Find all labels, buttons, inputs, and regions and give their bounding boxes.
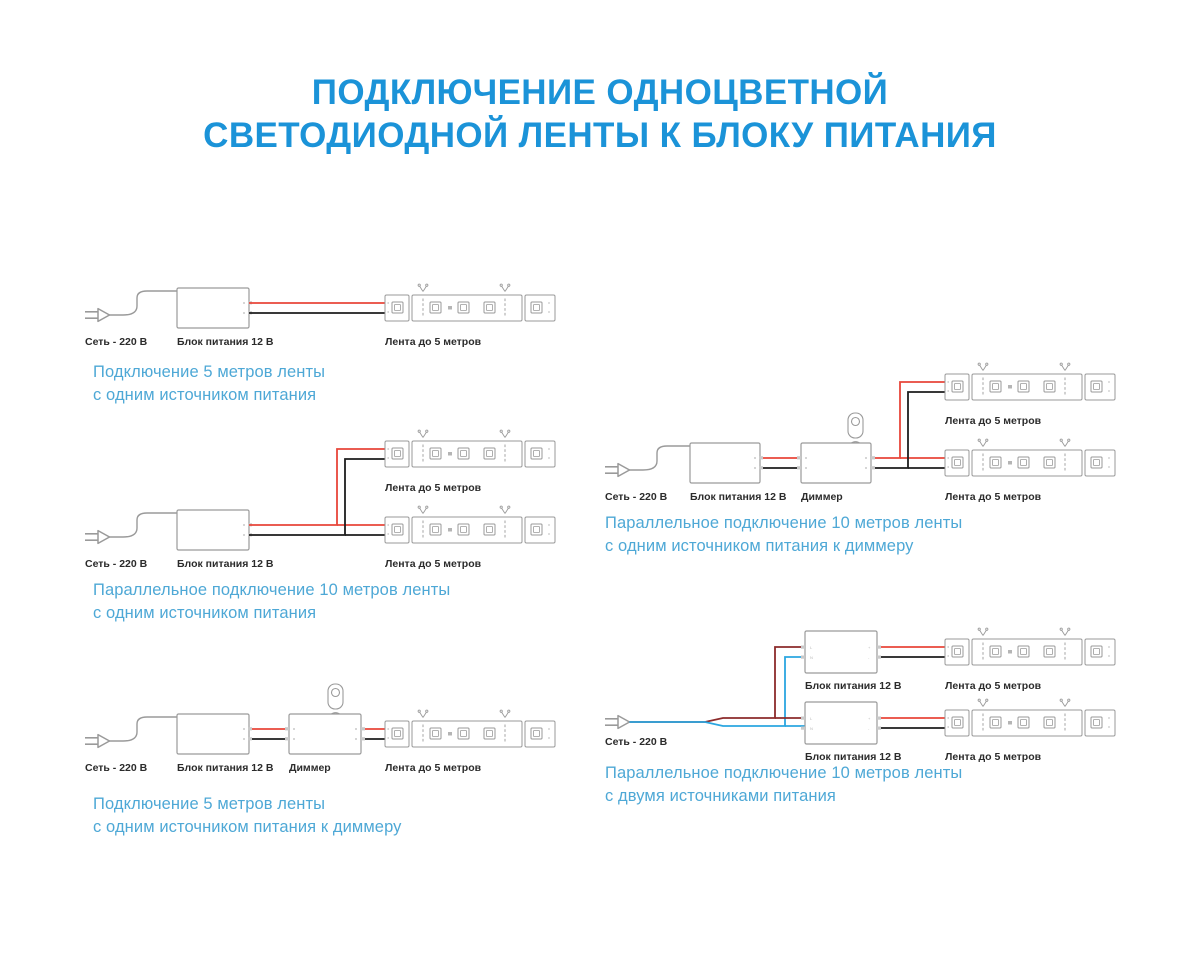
diagram-3-caption: Подключение 5 метров ленты с одним источ… (93, 793, 402, 840)
diagram-2: Лента до 5 метров Сеть - 220 В Блок пита… (85, 440, 585, 570)
wire-positive-branch (249, 449, 385, 525)
diagram-1-caption: Подключение 5 метров ленты с одним источ… (93, 361, 325, 408)
label-strip: Лента до 5 метров (945, 415, 1042, 427)
label-dimmer: Диммер (289, 762, 331, 774)
led-strip (945, 439, 1115, 476)
caption-line-2: с одним источником питания (93, 602, 450, 625)
label-strip: Лента до 5 метров (385, 482, 482, 494)
power-supply-block (177, 714, 252, 754)
label-psu: Блок питания 12 В (177, 558, 274, 570)
label-strip: Лента до 5 метров (945, 680, 1042, 692)
label-psu: Блок питания 12 В (805, 680, 902, 692)
page-title-line-1: ПОДКЛЮЧЕНИЕ ОДНОЦВЕТНОЙ (0, 72, 1200, 115)
infographic-page: ПОДКЛЮЧЕНИЕ ОДНОЦВЕТНОЙ СВЕТОДИОДНОЙ ЛЕН… (0, 0, 1200, 960)
label-mains: Сеть - 220 В (85, 336, 148, 348)
led-strip (385, 710, 555, 747)
terminal-label-n: N (810, 726, 813, 731)
terminal-label-n: N (810, 655, 813, 660)
label-psu: Блок питания 12 В (177, 336, 274, 348)
mains-plug-icon (85, 531, 110, 544)
wire-negative-branch (249, 459, 385, 535)
label-psu: Блок питания 12 В (177, 762, 274, 774)
led-strip (945, 363, 1115, 400)
led-strip (385, 284, 555, 321)
label-mains: Сеть - 220 В (605, 736, 668, 748)
mains-plug-icon (605, 464, 630, 477)
page-title-line-2: СВЕТОДИОДНОЙ ЛЕНТЫ К БЛОКУ ПИТАНИЯ (0, 115, 1200, 158)
diagram-2-caption: Параллельное подключение 10 метров ленты… (93, 579, 450, 626)
label-mains: Сеть - 220 В (85, 762, 148, 774)
diagram-5: L N + - L N + - (605, 625, 1115, 765)
label-mains: Сеть - 220 В (605, 491, 668, 503)
diagram-1: Сеть - 220 В Блок питания 12 В Лента до … (85, 288, 585, 358)
wire-mains-neutral (630, 657, 806, 726)
caption-line-1: Параллельное подключение 10 метров ленты (605, 762, 962, 785)
caption-line-2: с одним источником питания к диммеру (93, 816, 402, 839)
led-strip (945, 628, 1115, 665)
wire-positive-branch (875, 382, 945, 458)
power-supply-block (690, 443, 763, 483)
led-strip (385, 430, 555, 467)
caption-line-2: с двумя источниками питания (605, 785, 962, 808)
label-dimmer: Диммер (801, 491, 843, 503)
caption-line-1: Подключение 5 метров ленты (93, 793, 402, 816)
caption-line-1: Параллельное подключение 10 метров ленты (93, 579, 450, 602)
mains-plug-icon (85, 309, 110, 322)
label-strip: Лента до 5 метров (385, 762, 482, 774)
diagram-3: Сеть - 220 В Блок питания 12 В Диммер Ле… (85, 684, 585, 784)
led-strip (945, 699, 1115, 736)
led-strip (385, 506, 555, 543)
mains-plug-icon (85, 735, 110, 748)
label-strip: Лента до 5 метров (385, 336, 482, 348)
wire-negative-branch (875, 392, 945, 468)
label-mains: Сеть - 220 В (85, 558, 148, 570)
label-psu: Блок питания 12 В (690, 491, 787, 503)
caption-line-1: Параллельное подключение 10 метров ленты (605, 512, 962, 535)
caption-line-1: Подключение 5 метров ленты (93, 361, 325, 384)
power-supply-block: L N + - (801, 702, 881, 744)
power-supply-block (177, 510, 252, 550)
dimmer-block (285, 714, 365, 754)
diagram-5-caption: Параллельное подключение 10 метров ленты… (605, 762, 962, 809)
caption-line-2: с одним источником питания к диммеру (605, 535, 962, 558)
power-supply-block: L N + - (801, 631, 881, 673)
label-strip: Лента до 5 метров (385, 558, 482, 570)
wire-mains-live (630, 647, 806, 722)
mains-plug-icon (605, 716, 630, 729)
diagram-4-caption: Параллельное подключение 10 метров ленты… (605, 512, 962, 559)
power-supply-block (177, 288, 252, 328)
caption-line-2: с одним источником питания (93, 384, 325, 407)
diagram-4: Лента до 5 метров Сеть - 220 В Блок пита… (605, 373, 1115, 503)
label-strip: Лента до 5 метров (945, 491, 1042, 503)
page-title: ПОДКЛЮЧЕНИЕ ОДНОЦВЕТНОЙ СВЕТОДИОДНОЙ ЛЕН… (0, 72, 1200, 157)
dimmer-block (797, 443, 875, 483)
